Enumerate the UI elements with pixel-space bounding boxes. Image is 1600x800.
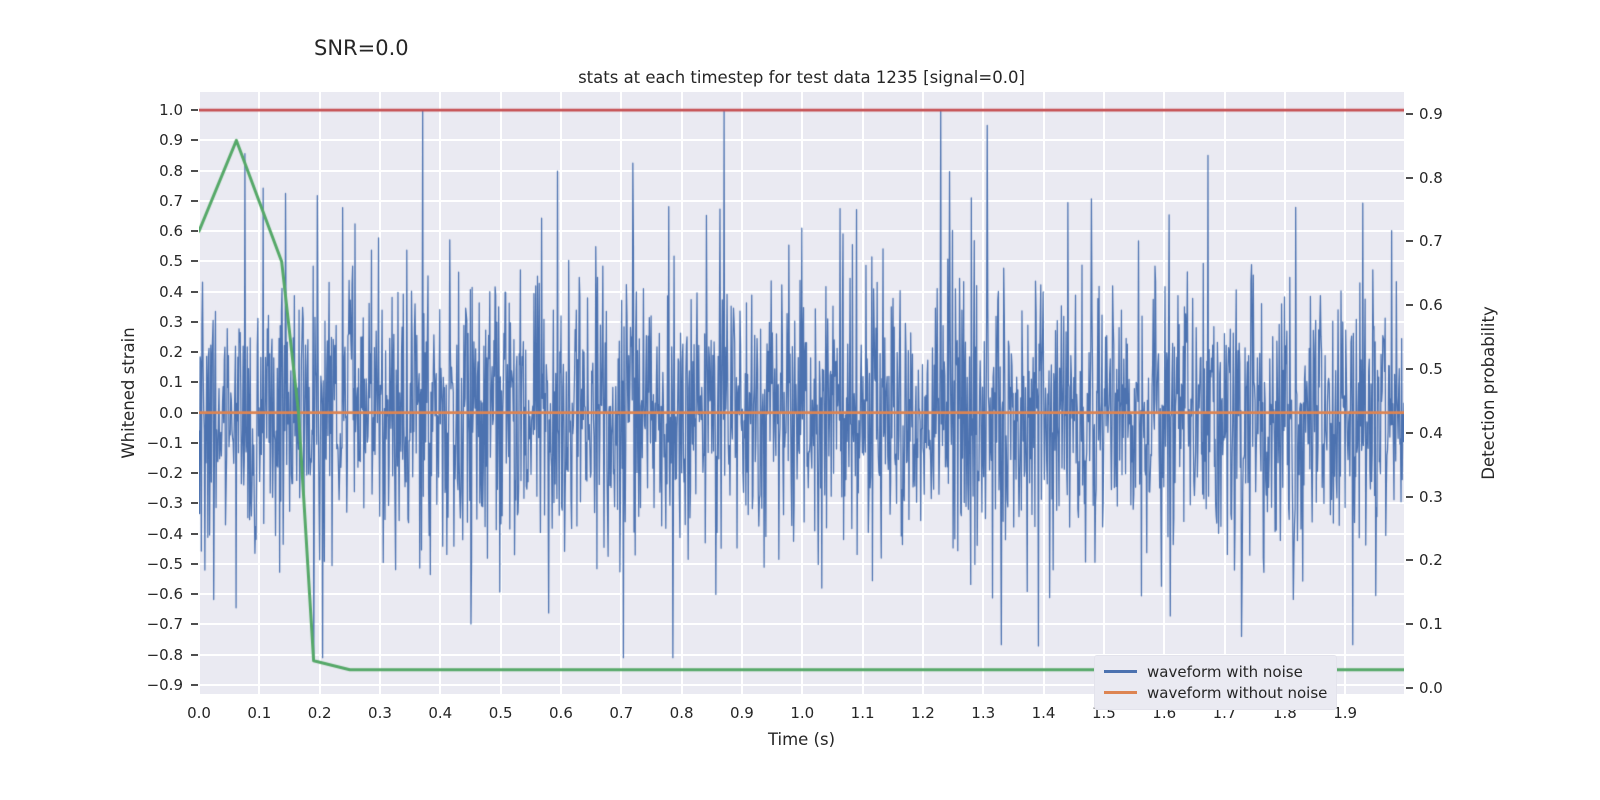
y-tick-label-right: 0.2: [1419, 551, 1443, 569]
y-tick-label-left: 0.7: [115, 192, 183, 210]
x-tick-label: 1.3: [971, 704, 995, 722]
y-tick-mark-left: [191, 109, 198, 111]
y-tick-label-left: 0.4: [115, 283, 183, 301]
y-tick-mark-right: [1406, 687, 1413, 689]
y-tick-label-right: 0.9: [1419, 105, 1443, 123]
y-tick-mark-left: [191, 381, 198, 383]
y-tick-label-right: 0.0: [1419, 679, 1443, 697]
y-tick-label-left: −0.6: [115, 585, 183, 603]
y-tick-mark-right: [1406, 623, 1413, 625]
y-tick-mark-left: [191, 351, 198, 353]
x-tick-label: 0.2: [308, 704, 332, 722]
x-tick-label: 0.6: [549, 704, 573, 722]
y-tick-mark-left: [191, 623, 198, 625]
y-tick-label-left: −0.9: [115, 676, 183, 694]
legend-item[interactable]: waveform without noise: [1104, 682, 1327, 703]
y-tick-mark-left: [191, 472, 198, 474]
y-tick-mark-right: [1406, 304, 1413, 306]
y-tick-label-left: −0.2: [115, 464, 183, 482]
legend-line-swatch: [1104, 691, 1137, 694]
x-tick-label: 1.1: [851, 704, 875, 722]
y-tick-label-right: 0.4: [1419, 424, 1443, 442]
y-tick-mark-left: [191, 593, 198, 595]
y-tick-mark-left: [191, 260, 198, 262]
y-tick-label-right: 0.5: [1419, 360, 1443, 378]
y-tick-mark-left: [191, 412, 198, 414]
x-tick-label: 0.5: [489, 704, 513, 722]
y-tick-mark-right: [1406, 496, 1413, 498]
y-tick-mark-left: [191, 533, 198, 535]
y-tick-label-left: −0.4: [115, 525, 183, 543]
y-axis-left-label: Whitened strain: [119, 327, 138, 458]
x-tick-label: 1.4: [1032, 704, 1056, 722]
y-tick-mark-left: [191, 684, 198, 686]
y-tick-mark-left: [191, 442, 198, 444]
y-tick-label-left: −0.7: [115, 615, 183, 633]
series-plot-canvas: [199, 92, 1404, 694]
y-tick-mark-right: [1406, 113, 1413, 115]
y-tick-mark-left: [191, 291, 198, 293]
y-tick-mark-left: [191, 502, 198, 504]
y-tick-mark-right: [1406, 240, 1413, 242]
plot-area: [199, 92, 1404, 694]
y-axis-right-label: Detection probability: [1479, 306, 1498, 479]
x-tick-label: 0.4: [428, 704, 452, 722]
y-tick-mark-left: [191, 170, 198, 172]
figure-canvas: SNR=0.0 stats at each timestep for test …: [0, 0, 1600, 800]
y-tick-label-left: 0.6: [115, 222, 183, 240]
legend-item[interactable]: waveform with noise: [1104, 661, 1327, 682]
y-tick-mark-right: [1406, 432, 1413, 434]
x-tick-label: 0.8: [670, 704, 694, 722]
y-tick-mark-right: [1406, 368, 1413, 370]
y-tick-mark-left: [191, 563, 198, 565]
x-tick-label: 0.0: [187, 704, 211, 722]
y-tick-mark-right: [1406, 177, 1413, 179]
y-tick-label-left: 0.5: [115, 252, 183, 270]
y-tick-label-right: 0.1: [1419, 615, 1443, 633]
legend-line-swatch: [1104, 670, 1137, 673]
y-tick-label-right: 0.6: [1419, 296, 1443, 314]
x-axis-label: Time (s): [199, 730, 1404, 749]
x-tick-label: 0.9: [730, 704, 754, 722]
legend-label: waveform with noise: [1147, 663, 1303, 681]
y-tick-mark-left: [191, 230, 198, 232]
x-tick-label: 0.7: [609, 704, 633, 722]
snr-annotation: SNR=0.0: [314, 36, 409, 60]
y-tick-mark-left: [191, 200, 198, 202]
y-tick-label-right: 0.3: [1419, 488, 1443, 506]
y-tick-mark-right: [1406, 559, 1413, 561]
legend-label: waveform without noise: [1147, 684, 1327, 702]
y-tick-label-left: 0.9: [115, 131, 183, 149]
legend[interactable]: waveform with noisewaveform without nois…: [1094, 655, 1337, 710]
x-tick-label: 0.1: [247, 704, 271, 722]
y-tick-mark-left: [191, 654, 198, 656]
y-tick-label-left: −0.5: [115, 555, 183, 573]
y-tick-label-left: −0.3: [115, 494, 183, 512]
x-tick-label: 1.0: [790, 704, 814, 722]
y-tick-label-right: 0.8: [1419, 169, 1443, 187]
y-tick-label-left: 1.0: [115, 101, 183, 119]
x-tick-label: 1.2: [911, 704, 935, 722]
y-tick-label-right: 0.7: [1419, 232, 1443, 250]
x-tick-label: 0.3: [368, 704, 392, 722]
chart-title: stats at each timestep for test data 123…: [199, 68, 1404, 87]
y-tick-mark-left: [191, 139, 198, 141]
y-tick-mark-left: [191, 321, 198, 323]
y-tick-label-left: −0.8: [115, 646, 183, 664]
y-tick-label-left: 0.8: [115, 162, 183, 180]
